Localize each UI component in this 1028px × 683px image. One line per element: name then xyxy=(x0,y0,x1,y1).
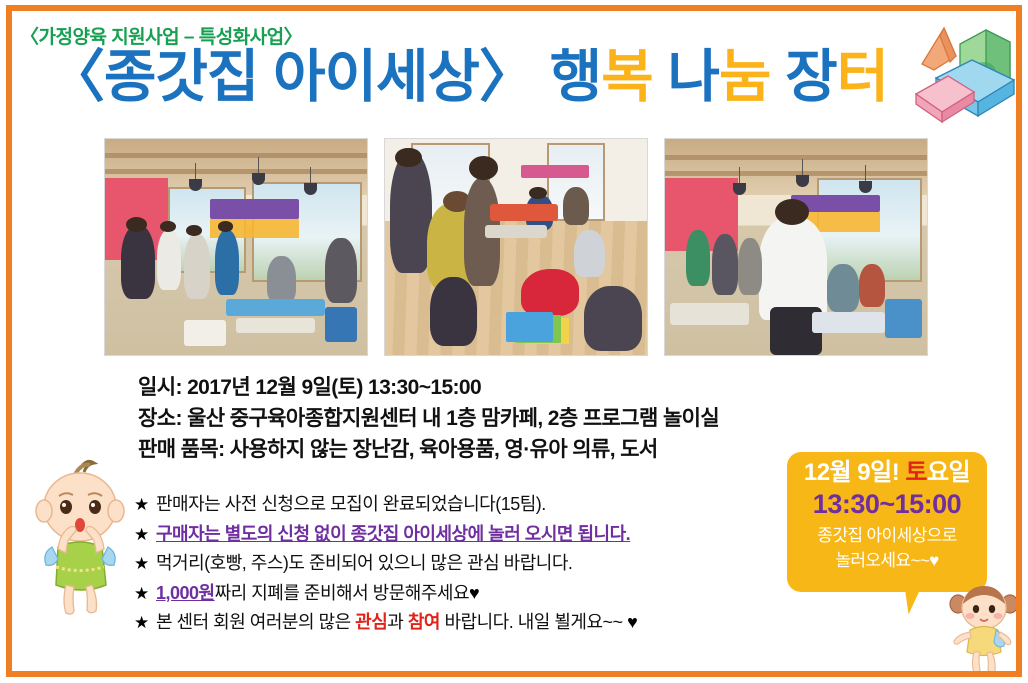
event-photo-1 xyxy=(104,138,368,356)
title-part-4: 눔 xyxy=(719,45,770,109)
bullet-4-amount: 1,000원 xyxy=(156,583,215,603)
list-item: ★본 센터 회원 여러분의 많은 관심과 참여 바랍니다. 내일 뵐게요~~ ♥ xyxy=(134,608,637,638)
info-line-items: 판매 품목: 사용하지 않는 장난감, 육아용품, 영·유아 의류, 도서 xyxy=(138,435,719,466)
bubble-line-time: 13:30~15:00 xyxy=(787,488,987,522)
event-photo-2 xyxy=(384,138,648,356)
bullet-5-text-a: 본 센터 회원 여러분의 많은 xyxy=(156,612,355,632)
bullet-5-text-b: 과 xyxy=(387,612,408,632)
bullet-5-text-c: 바랍니다. 내일 뵐게요~~ xyxy=(440,612,627,632)
title-part-5: 장 xyxy=(770,45,836,109)
list-item: ★먹거리(호빵, 주스)도 준비되어 있으니 많은 관심 바랍니다. xyxy=(134,549,637,579)
page-title: 〈종갓집 아이세상〉 행복 나눔 장터 xyxy=(48,48,888,108)
heart-icon: ♥ xyxy=(469,583,479,603)
event-info-block: 일시: 2017년 12월 9일(토) 13:30~15:00 장소: 울산 중… xyxy=(138,373,719,466)
notice-list: ★판매자는 사전 신청으로 모집이 완료되었습니다(15팀). ★구매자는 별도… xyxy=(134,490,637,638)
baby-girl-character xyxy=(946,578,1022,676)
bubble-date-suffix: 요일 xyxy=(927,459,970,486)
title-part-1: 행 xyxy=(535,45,601,109)
baby-boy-character xyxy=(22,455,140,620)
bullet-5-emphasis-2: 참여 xyxy=(408,612,440,632)
bullet-5-emphasis-1: 관심 xyxy=(355,612,387,632)
list-item: ★1,000원짜리 지폐를 준비해서 방문해주세요♥ xyxy=(134,579,637,609)
bubble-line-date: 12월 9일! 토요일 xyxy=(787,458,987,488)
title-part-6: 터 xyxy=(837,45,888,109)
building-blocks-icon xyxy=(910,22,1018,126)
bubble-saturday: 토 xyxy=(905,459,927,486)
bullet-2-text: 구매자는 별도의 신청 없이 종갓집 아이세상에 놀러 오시면 됩니다. xyxy=(156,524,630,544)
info-line-datetime: 일시: 2017년 12월 9일(토) 13:30~15:00 xyxy=(138,373,719,404)
list-item: ★판매자는 사전 신청으로 모집이 완료되었습니다(15팀). xyxy=(134,490,637,520)
bubble-date-prefix: 12월 9일! xyxy=(804,459,906,486)
highlight-speech-bubble: 12월 9일! 토요일 13:30~15:00 종갓집 아이세상으로 놀러오세요… xyxy=(787,452,987,592)
poster-root: 〈가정양육 지원사업 – 특성화사업〉 〈종갓집 아이세상〉 행복 나눔 장터 xyxy=(0,0,1028,683)
photo-strip xyxy=(104,138,928,356)
speech-bubble-tail xyxy=(904,576,944,615)
bubble-line-invite-1: 종갓집 아이세상으로 xyxy=(787,525,987,547)
info-line-location: 장소: 울산 중구육아종합지원센터 내 1층 맘카페, 2층 프로그램 놀이실 xyxy=(138,404,719,435)
title-part-0: 〈종갓집 아이세상〉 xyxy=(48,45,535,109)
event-photo-3 xyxy=(664,138,928,356)
bullet-4-text: 짜리 지폐를 준비해서 방문해주세요 xyxy=(215,583,469,603)
bullet-3-text: 먹거리(호빵, 주스)도 준비되어 있으니 많은 관심 바랍니다. xyxy=(156,553,572,573)
list-item: ★구매자는 별도의 신청 없이 종갓집 아이세상에 놀러 오시면 됩니다. xyxy=(134,520,637,550)
title-part-3: 나 xyxy=(653,45,719,109)
heart-icon: ♥ xyxy=(627,612,637,632)
bullet-1-text: 판매자는 사전 신청으로 모집이 완료되었습니다(15팀). xyxy=(156,494,546,514)
bubble-line-invite-2: 놀러오세요~~♥ xyxy=(787,550,987,572)
title-part-2: 복 xyxy=(601,45,652,109)
